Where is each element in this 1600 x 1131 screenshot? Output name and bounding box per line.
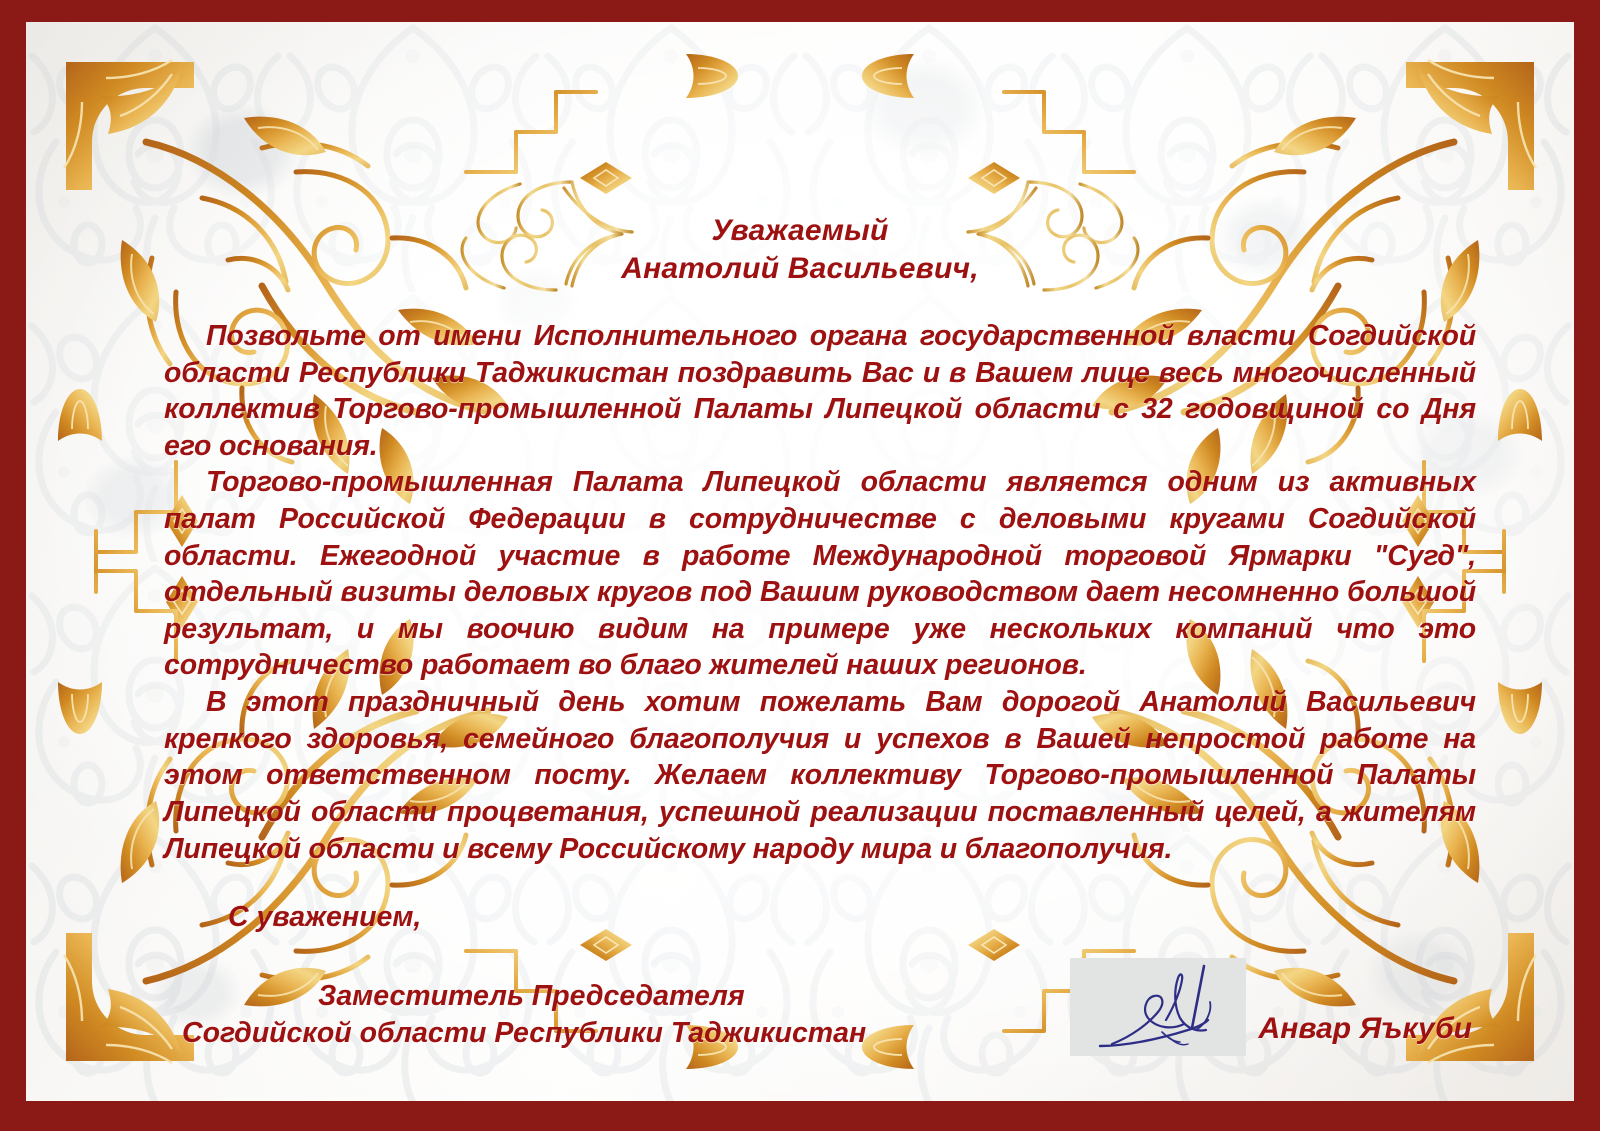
greeting-header: Уважаемый Анатолий Васильевич, (122, 172, 1478, 312)
greeting-line-1: Уважаемый (122, 212, 1478, 250)
body-paragraph-1: Позвольте от имени Исполнительного орган… (164, 318, 1476, 464)
body-paragraph-2: Торгово-промышленная Палата Липецкой обл… (164, 464, 1476, 684)
signature-block: Заместитель Председателя Согдийской обла… (122, 978, 1478, 1101)
signer-title-line-1: Заместитель Председателя (318, 978, 1478, 1014)
certificate-frame: Уважаемый Анатолий Васильевич, Позвольте… (0, 0, 1600, 1131)
greeting-text: Уважаемый Анатолий Васильевич, (122, 212, 1478, 289)
greeting-line-2: Анатолий Васильевич, (122, 250, 1478, 288)
letter-body: Позвольте от имени Исполнительного орган… (122, 318, 1478, 867)
letter-content: Уважаемый Анатолий Васильевич, Позвольте… (26, 22, 1574, 1101)
certificate-paper: Уважаемый Анатолий Васильевич, Позвольте… (26, 22, 1574, 1101)
valediction: С уважением, (228, 901, 1478, 934)
body-paragraph-3: В этот праздничный день хотим пожелать В… (164, 684, 1476, 867)
handwritten-signature-image (1070, 958, 1246, 1056)
signer-name: Анвар Яъкуби (1259, 1012, 1472, 1046)
